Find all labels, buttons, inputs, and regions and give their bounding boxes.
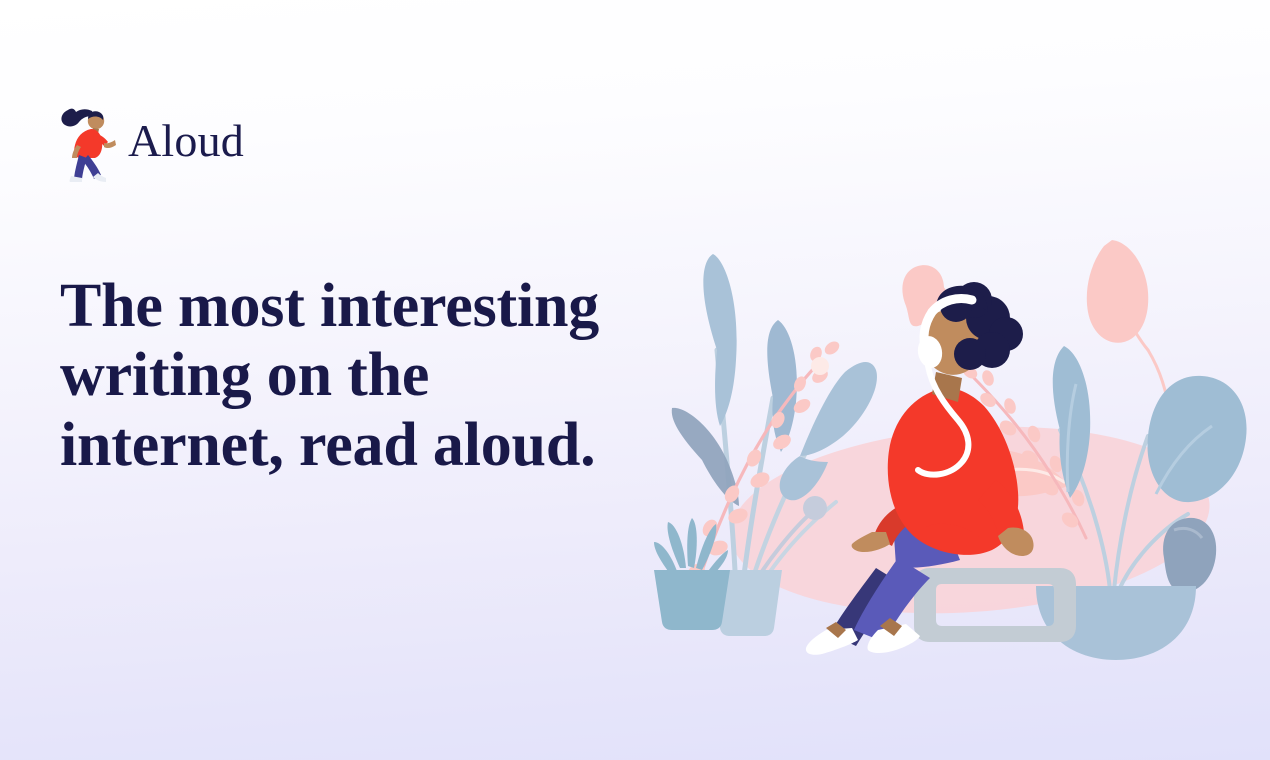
headline-line-3: internet, read aloud.	[60, 411, 680, 480]
headline-line-1: The most interesting	[60, 272, 680, 341]
brand-logo[interactable]: Aloud	[58, 100, 244, 186]
headline-line-2: writing on the	[60, 341, 680, 410]
brand-wordmark: Aloud	[128, 118, 244, 168]
small-aloe-pot	[654, 518, 730, 630]
hero-illustration	[640, 230, 1270, 660]
walking-person-icon	[58, 100, 120, 186]
page-headline: The most interesting writing on the inte…	[60, 272, 680, 480]
landing-page: Aloud The most interesting writing on th…	[0, 0, 1270, 760]
